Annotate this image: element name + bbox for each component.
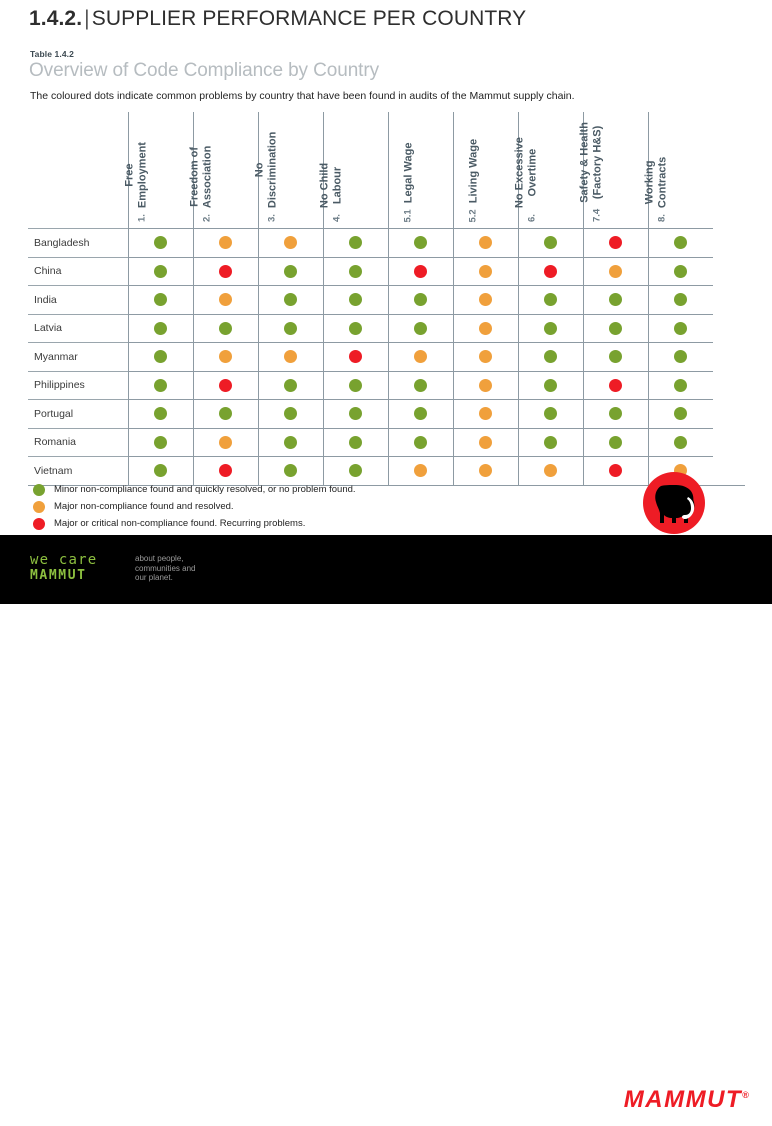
status-dot-green (609, 322, 622, 335)
table-head: 1.FreeEmployment2.Freedom ofAssociation3… (28, 112, 745, 229)
status-dot-green (544, 379, 557, 392)
row-tail-cell (713, 314, 745, 343)
column-header-number: 3. (266, 214, 279, 222)
table-header-row: 1.FreeEmployment2.Freedom ofAssociation3… (28, 112, 745, 229)
legend-item: Major or critical non-compliance found. … (33, 515, 356, 532)
section-number: 1.4.2. (29, 7, 82, 30)
compliance-cell[interactable] (648, 428, 713, 457)
status-dot-green (154, 322, 167, 335)
country-label: Philippines (28, 371, 128, 400)
status-dot-green (154, 464, 167, 477)
status-dot-green (414, 322, 427, 335)
compliance-cell[interactable] (128, 428, 193, 457)
compliance-cell[interactable] (648, 343, 713, 372)
compliance-cell[interactable] (128, 343, 193, 372)
status-dot-green (414, 236, 427, 249)
compliance-cell[interactable] (583, 314, 648, 343)
status-dot-orange (479, 265, 492, 278)
status-dot-red (609, 379, 622, 392)
country-label: China (28, 257, 128, 286)
status-dot-green (349, 379, 362, 392)
compliance-cell[interactable] (258, 286, 323, 315)
column-header-6: 5.2Living Wage (453, 112, 518, 229)
compliance-cell[interactable] (258, 400, 323, 429)
compliance-cell[interactable] (193, 286, 258, 315)
status-dot-orange (479, 436, 492, 449)
status-dot-orange (219, 293, 232, 306)
status-dot-green (414, 293, 427, 306)
status-dot-orange (479, 322, 492, 335)
we-care-logo: we care MAMMUT about people, communities… (30, 553, 285, 589)
compliance-cell[interactable] (583, 428, 648, 457)
compliance-cell[interactable] (518, 400, 583, 429)
column-header-label: Safety & Health(Factory H&S) (578, 122, 603, 203)
status-dot-green (674, 350, 687, 363)
compliance-cell[interactable] (258, 314, 323, 343)
status-dot-orange (479, 407, 492, 420)
status-dot-green (349, 407, 362, 420)
compliance-cell[interactable] (128, 257, 193, 286)
status-dot-orange (479, 293, 492, 306)
table-body: BangladeshChinaIndiaLatviaMyanmarPhilipp… (28, 229, 745, 486)
status-dot-green (349, 322, 362, 335)
status-dot-green (544, 407, 557, 420)
row-tail-cell (713, 286, 745, 315)
compliance-cell[interactable] (518, 428, 583, 457)
legend-dot-orange (33, 501, 45, 513)
compliance-cell[interactable] (193, 343, 258, 372)
status-dot-green (609, 436, 622, 449)
table-corner-cell (28, 112, 128, 229)
column-header-1: 1.FreeEmployment (128, 112, 193, 229)
status-dot-orange (414, 464, 427, 477)
compliance-cell[interactable] (453, 286, 518, 315)
legend: Minor non-compliance found and quickly r… (33, 481, 356, 532)
column-header-label: No ChildLabour (318, 163, 343, 208)
row-tail-cell (713, 371, 745, 400)
we-care-tagline: about people, communities and our planet… (135, 554, 195, 583)
status-dot-green (544, 350, 557, 363)
compliance-cell[interactable] (583, 343, 648, 372)
status-dot-orange (219, 236, 232, 249)
compliance-cell[interactable] (258, 257, 323, 286)
table-row: Romania (28, 428, 745, 457)
compliance-cell[interactable] (388, 257, 453, 286)
status-dot-green (154, 379, 167, 392)
compliance-cell[interactable] (323, 286, 388, 315)
compliance-cell[interactable] (258, 343, 323, 372)
table-row: Myanmar (28, 343, 745, 372)
status-dot-green (674, 379, 687, 392)
status-dot-red (414, 265, 427, 278)
status-dot-red (349, 350, 362, 363)
compliance-cell[interactable] (518, 286, 583, 315)
compliance-cell[interactable] (518, 314, 583, 343)
status-dot-orange (284, 236, 297, 249)
column-header-number: 5.1 (402, 209, 415, 222)
country-label: Myanmar (28, 343, 128, 372)
legend-item: Minor non-compliance found and quickly r… (33, 481, 356, 498)
column-header-2: 2.Freedom ofAssociation (193, 112, 258, 229)
status-dot-green (154, 350, 167, 363)
column-header-label: FreeEmployment (123, 142, 148, 208)
table-label: Table 1.4.2 (30, 49, 74, 59)
row-tail-cell (713, 257, 745, 286)
status-dot-green (544, 436, 557, 449)
column-header-4: 4.No ChildLabour (323, 112, 388, 229)
column-header-7: 6.No ExcessiveOvertime (518, 112, 583, 229)
status-dot-green (219, 322, 232, 335)
compliance-cell[interactable] (518, 371, 583, 400)
column-header-number: 8. (656, 214, 669, 222)
status-dot-green (674, 265, 687, 278)
we-care-line2: MAMMUT (30, 568, 130, 583)
compliance-cell[interactable] (258, 229, 323, 258)
compliance-cell[interactable] (323, 371, 388, 400)
country-label: Romania (28, 428, 128, 457)
status-dot-orange (479, 350, 492, 363)
country-label: Latvia (28, 314, 128, 343)
we-care-tagline-l3: our planet. (135, 573, 195, 583)
legend-dot-red (33, 518, 45, 530)
table-row: Philippines (28, 371, 745, 400)
we-care-tagline-l1: about people, (135, 554, 195, 564)
status-dot-green (674, 407, 687, 420)
compliance-cell[interactable] (453, 371, 518, 400)
column-header-label: Freedom ofAssociation (188, 146, 213, 208)
compliance-cell[interactable] (388, 286, 453, 315)
status-dot-green (609, 350, 622, 363)
status-dot-green (154, 236, 167, 249)
compliance-cell[interactable] (388, 457, 453, 486)
status-dot-green (544, 236, 557, 249)
compliance-cell[interactable] (388, 229, 453, 258)
legend-label: Minor non-compliance found and quickly r… (54, 484, 356, 495)
compliance-cell[interactable] (648, 314, 713, 343)
compliance-cell[interactable] (648, 257, 713, 286)
compliance-cell[interactable] (583, 286, 648, 315)
status-dot-red (544, 265, 557, 278)
status-dot-green (284, 407, 297, 420)
mammut-wordmark: MAMMUT® (617, 1083, 757, 1112)
status-dot-green (219, 407, 232, 420)
column-header-number: 6. (526, 214, 539, 222)
compliance-cell[interactable] (323, 229, 388, 258)
country-label: Bangladesh (28, 229, 128, 258)
status-dot-green (154, 436, 167, 449)
title-separator: | (82, 7, 92, 30)
status-dot-orange (284, 350, 297, 363)
legend-label: Major or critical non-compliance found. … (54, 518, 305, 529)
compliance-cell[interactable] (193, 257, 258, 286)
compliance-cell[interactable] (388, 428, 453, 457)
status-dot-orange (219, 350, 232, 363)
column-header-label: Legal Wage (402, 142, 415, 203)
compliance-cell[interactable] (648, 286, 713, 315)
status-dot-green (284, 379, 297, 392)
mammut-brand: MAMMUT® Absolute alpine. (617, 1083, 757, 1126)
status-dot-green (349, 436, 362, 449)
status-dot-orange (479, 379, 492, 392)
status-dot-green (284, 265, 297, 278)
compliance-cell[interactable] (518, 343, 583, 372)
intro-text: The coloured dots indicate common proble… (30, 90, 575, 102)
compliance-cell[interactable] (128, 314, 193, 343)
table-row: Latvia (28, 314, 745, 343)
compliance-cell[interactable] (388, 314, 453, 343)
status-dot-orange (414, 350, 427, 363)
compliance-cell[interactable] (388, 400, 453, 429)
status-dot-orange (479, 236, 492, 249)
compliance-cell[interactable] (193, 371, 258, 400)
status-dot-green (674, 436, 687, 449)
legend-label: Major non-compliance found and resolved. (54, 501, 234, 512)
status-dot-green (349, 265, 362, 278)
column-header-label: No ExcessiveOvertime (513, 137, 538, 208)
compliance-cell[interactable] (193, 428, 258, 457)
status-dot-green (154, 407, 167, 420)
compliance-cell[interactable] (453, 229, 518, 258)
status-dot-green (284, 322, 297, 335)
status-dot-green (154, 265, 167, 278)
legend-item: Major non-compliance found and resolved. (33, 498, 356, 515)
compliance-cell[interactable] (193, 229, 258, 258)
footer-bar: we care MAMMUT about people, communities… (0, 535, 772, 604)
status-dot-orange (544, 464, 557, 477)
status-dot-green (284, 293, 297, 306)
status-dot-green (674, 236, 687, 249)
compliance-cell[interactable] (128, 400, 193, 429)
status-dot-green (414, 407, 427, 420)
status-dot-green (674, 293, 687, 306)
compliance-cell[interactable] (193, 400, 258, 429)
column-header-number: 4. (331, 214, 344, 222)
table-row: India (28, 286, 745, 315)
status-dot-green (284, 436, 297, 449)
we-care-wordmark: we care MAMMUT (30, 553, 130, 583)
compliance-cell[interactable] (323, 428, 388, 457)
column-header-9: 8.WorkingContracts (648, 112, 713, 229)
compliance-cell[interactable] (583, 400, 648, 429)
status-dot-orange (479, 464, 492, 477)
row-tail-cell (713, 428, 745, 457)
status-dot-green (349, 293, 362, 306)
mammut-brand-tagline: Absolute alpine. (617, 1112, 757, 1126)
mammoth-icon (643, 472, 705, 534)
status-dot-red (219, 464, 232, 477)
compliance-cell[interactable] (323, 314, 388, 343)
compliance-cell[interactable] (128, 371, 193, 400)
column-header-label: Living Wage (467, 138, 480, 202)
compliance-cell[interactable] (518, 457, 583, 486)
column-header-number: 7.4 (591, 209, 604, 222)
status-dot-red (219, 379, 232, 392)
we-care-tagline-l2: communities and (135, 564, 195, 574)
compliance-cell[interactable] (453, 400, 518, 429)
column-header-3: 3.NoDiscrimination (258, 112, 323, 229)
table-row: China (28, 257, 745, 286)
status-dot-red (609, 236, 622, 249)
country-label: India (28, 286, 128, 315)
status-dot-green (349, 464, 362, 477)
we-care-line1: we care (30, 553, 130, 568)
status-dot-green (284, 464, 297, 477)
registered-mark-icon: ® (742, 1090, 750, 1100)
compliance-cell[interactable] (453, 257, 518, 286)
table-row: Portugal (28, 400, 745, 429)
status-dot-red (219, 265, 232, 278)
table-tail-cell (713, 112, 745, 229)
compliance-cell[interactable] (128, 229, 193, 258)
status-dot-green (414, 436, 427, 449)
status-dot-green (544, 293, 557, 306)
column-header-label: WorkingContracts (643, 157, 668, 208)
legend-dot-green (33, 484, 45, 496)
column-header-number: 5.2 (467, 209, 480, 222)
table-subtitle: Overview of Code Compliance by Country (29, 60, 379, 82)
compliance-cell[interactable] (258, 428, 323, 457)
status-dot-orange (609, 265, 622, 278)
compliance-cell[interactable] (323, 257, 388, 286)
title-text: SUPPLIER PERFORMANCE PER COUNTRY (92, 7, 527, 30)
page-title: 1.4.2.|SUPPLIER PERFORMANCE PER COUNTRY (29, 7, 526, 31)
compliance-cell[interactable] (453, 314, 518, 343)
status-dot-green (349, 236, 362, 249)
compliance-cell[interactable] (323, 400, 388, 429)
row-tail-cell (713, 229, 745, 258)
column-header-8: 7.4Safety & Health(Factory H&S) (583, 112, 648, 229)
status-dot-orange (219, 436, 232, 449)
compliance-cell[interactable] (453, 428, 518, 457)
compliance-cell[interactable] (583, 371, 648, 400)
status-dot-red (609, 464, 622, 477)
compliance-cell[interactable] (128, 286, 193, 315)
compliance-cell[interactable] (258, 371, 323, 400)
column-header-number: 2. (201, 214, 214, 222)
compliance-cell[interactable] (453, 457, 518, 486)
page: 1.4.2.|SUPPLIER PERFORMANCE PER COUNTRY … (0, 0, 772, 604)
column-header-label: NoDiscrimination (253, 132, 278, 208)
compliance-cell[interactable] (583, 257, 648, 286)
compliance-cell[interactable] (388, 343, 453, 372)
status-dot-green (609, 293, 622, 306)
compliance-cell[interactable] (388, 371, 453, 400)
row-tail-cell (713, 400, 745, 429)
column-header-5: 5.1Legal Wage (388, 112, 453, 229)
mammut-wordmark-text: MAMMUT (624, 1086, 742, 1113)
compliance-table-wrapper: 1.FreeEmployment2.Freedom ofAssociation3… (28, 112, 745, 486)
table-row: Bangladesh (28, 229, 745, 258)
country-label: Portugal (28, 400, 128, 429)
status-dot-green (544, 322, 557, 335)
status-dot-green (414, 379, 427, 392)
compliance-cell[interactable] (583, 229, 648, 258)
mammut-logo (629, 472, 725, 534)
status-dot-green (674, 322, 687, 335)
logo-circle (643, 472, 705, 534)
compliance-cell[interactable] (648, 371, 713, 400)
compliance-cell[interactable] (193, 314, 258, 343)
status-dot-green (609, 407, 622, 420)
status-dot-green (154, 293, 167, 306)
compliance-cell[interactable] (648, 400, 713, 429)
compliance-cell[interactable] (518, 229, 583, 258)
compliance-cell[interactable] (648, 229, 713, 258)
compliance-cell[interactable] (518, 257, 583, 286)
compliance-cell[interactable] (453, 343, 518, 372)
compliance-cell[interactable] (323, 343, 388, 372)
row-tail-cell (713, 343, 745, 372)
compliance-table: 1.FreeEmployment2.Freedom ofAssociation3… (28, 112, 745, 486)
column-header-number: 1. (136, 214, 149, 222)
